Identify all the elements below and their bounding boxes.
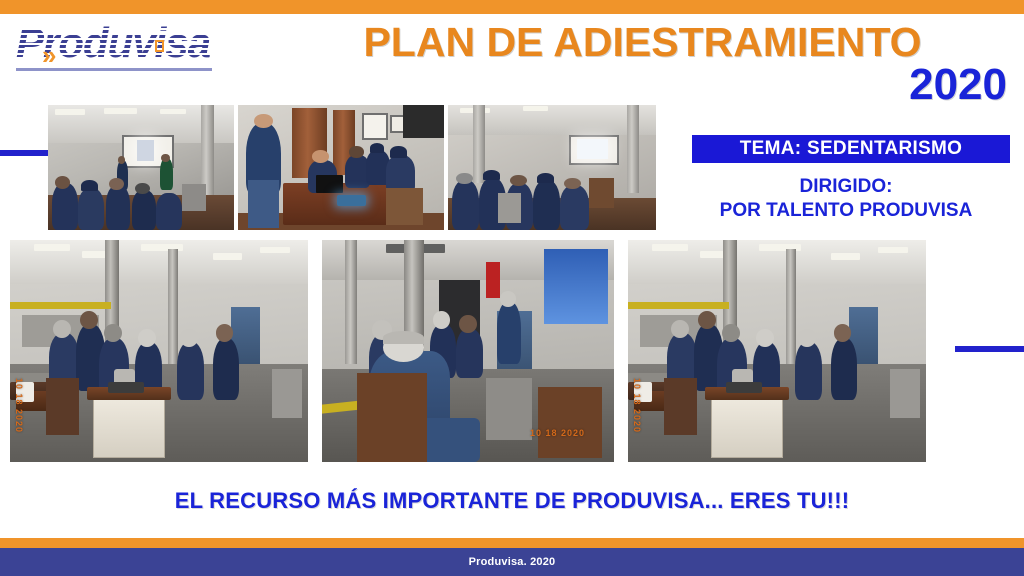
footer-accent-bar (0, 538, 1024, 548)
dirigido-line-1: DIRIGIDO: (672, 175, 1020, 199)
photo-top-center (238, 105, 444, 230)
tema-badge: TEMA: SEDENTARISMO (692, 135, 1010, 163)
photo-top-left (48, 105, 234, 230)
photo-timestamp: 10 18 2020 (530, 428, 585, 438)
photo-bottom-center: 10 18 2020 (322, 240, 614, 462)
photo-timestamp: 10 18 2020 (632, 378, 642, 433)
photo-bottom-left: 10 18 2020 (10, 240, 308, 462)
left-accent-rule (0, 150, 52, 156)
top-accent-bar (0, 0, 1024, 14)
dirigido-line-2: POR TALENTO PRODUVISA (672, 199, 1020, 223)
slide-year: 2020 (270, 62, 1015, 108)
photo-bottom-right: 10 18 2020 (628, 240, 926, 462)
slide-title: PLAN DE ADIESTRAMIENTO (270, 20, 1015, 64)
right-accent-rule (955, 346, 1024, 352)
photo-timestamp: 10 18 2020 (14, 378, 24, 433)
dirigido-block: DIRIGIDO: POR TALENTO PRODUVISA (672, 175, 1020, 223)
produvisa-logo: Produvisa » (16, 20, 216, 76)
logo-chevron-icon: » (42, 42, 56, 68)
photo-top-right (448, 105, 656, 230)
logo-accent-square-icon (155, 40, 164, 52)
footer-bar: Produvisa. 2020 (0, 548, 1024, 576)
slide-tagline: EL RECURSO MÁS IMPORTANTE DE PRODUVISA..… (0, 488, 1024, 514)
footer-text: Produvisa. 2020 (469, 556, 556, 568)
tema-label: TEMA: SEDENTARISMO (740, 138, 963, 160)
